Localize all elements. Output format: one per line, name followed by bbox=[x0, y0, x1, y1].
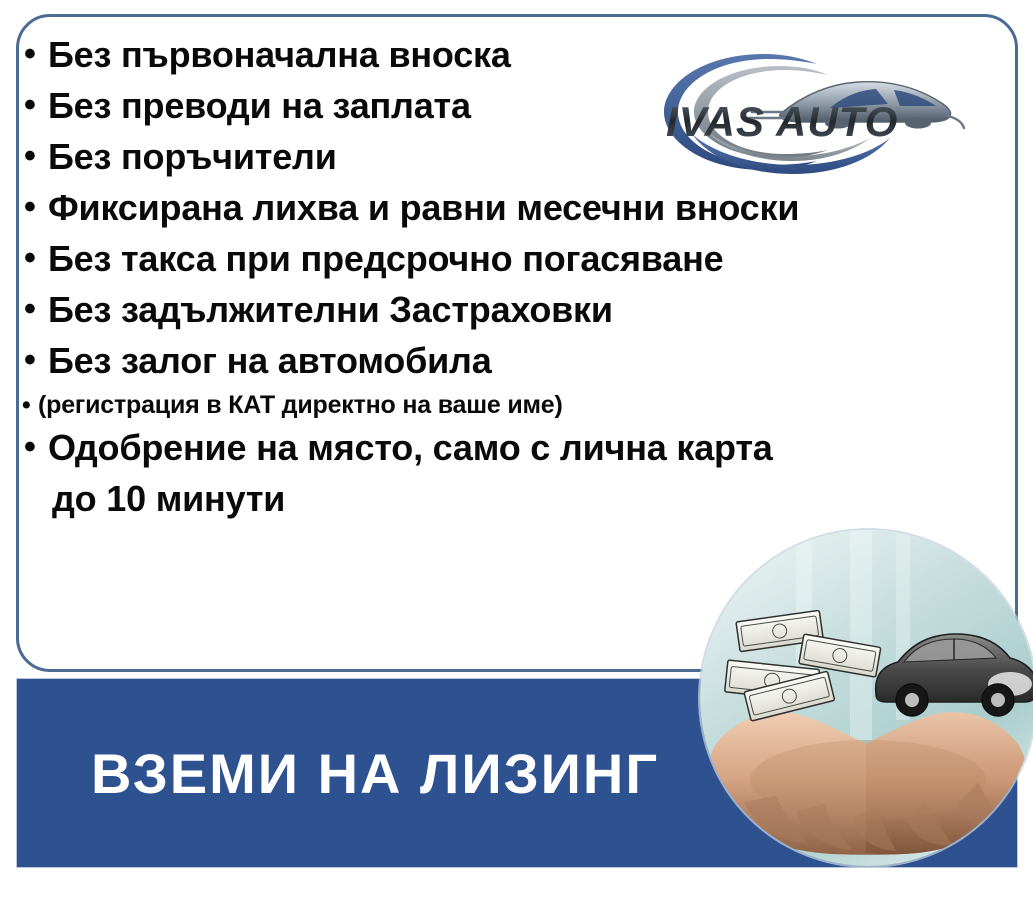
benefit-item-note: • (регистрация в КАТ директно на ваше им… bbox=[22, 387, 982, 424]
hands-holding-money-and-car-photo bbox=[700, 530, 1033, 866]
ivas-auto-logo: IVAS AUTO bbox=[652, 46, 970, 178]
benefit-label: Фиксирана лихва и равни месечни вноски bbox=[48, 187, 799, 228]
bullet-icon: • bbox=[24, 30, 36, 78]
bullet-icon: • bbox=[24, 423, 36, 471]
bullet-icon: • bbox=[22, 387, 31, 424]
bullet-icon: • bbox=[24, 336, 36, 384]
benefit-label-line2: до 10 минути bbox=[48, 474, 978, 525]
benefit-item: • Без залог на автомобила bbox=[22, 336, 982, 387]
cta-headline: ВЗЕМИ НА ЛИЗИНГ bbox=[91, 741, 659, 806]
benefit-label: Без залог на автомобила bbox=[48, 340, 492, 381]
benefit-item: • Без такса при предсрочно погасяване bbox=[22, 234, 982, 285]
benefit-label: Без първоначална вноска bbox=[48, 34, 511, 75]
benefit-item: • Фиксирана лихва и равни месечни вноски bbox=[22, 183, 982, 234]
benefit-label: Одобрение на място, само с лична карта bbox=[48, 427, 773, 468]
benefit-item: • Без задължителни Застраховки bbox=[22, 285, 982, 336]
bullet-icon: • bbox=[24, 132, 36, 180]
benefit-note-label: (регистрация в КАТ директно на ваше име) bbox=[38, 391, 563, 419]
bullet-icon: • bbox=[24, 183, 36, 231]
benefit-label: Без поръчители bbox=[48, 136, 337, 177]
benefit-label: Без преводи на заплата bbox=[48, 85, 471, 126]
bullet-icon: • bbox=[24, 285, 36, 333]
promo-poster: • Без първоначална вноска • Без преводи … bbox=[0, 0, 1033, 902]
benefit-label: Без задължителни Застраховки bbox=[48, 289, 613, 330]
benefit-label: Без такса при предсрочно погасяване bbox=[48, 238, 723, 279]
logo-wordmark: IVAS AUTO bbox=[666, 98, 898, 145]
benefit-item-approval: • Одобрение на място, само с лична карта… bbox=[22, 423, 978, 525]
bullet-icon: • bbox=[24, 234, 36, 282]
bullet-icon: • bbox=[24, 81, 36, 129]
